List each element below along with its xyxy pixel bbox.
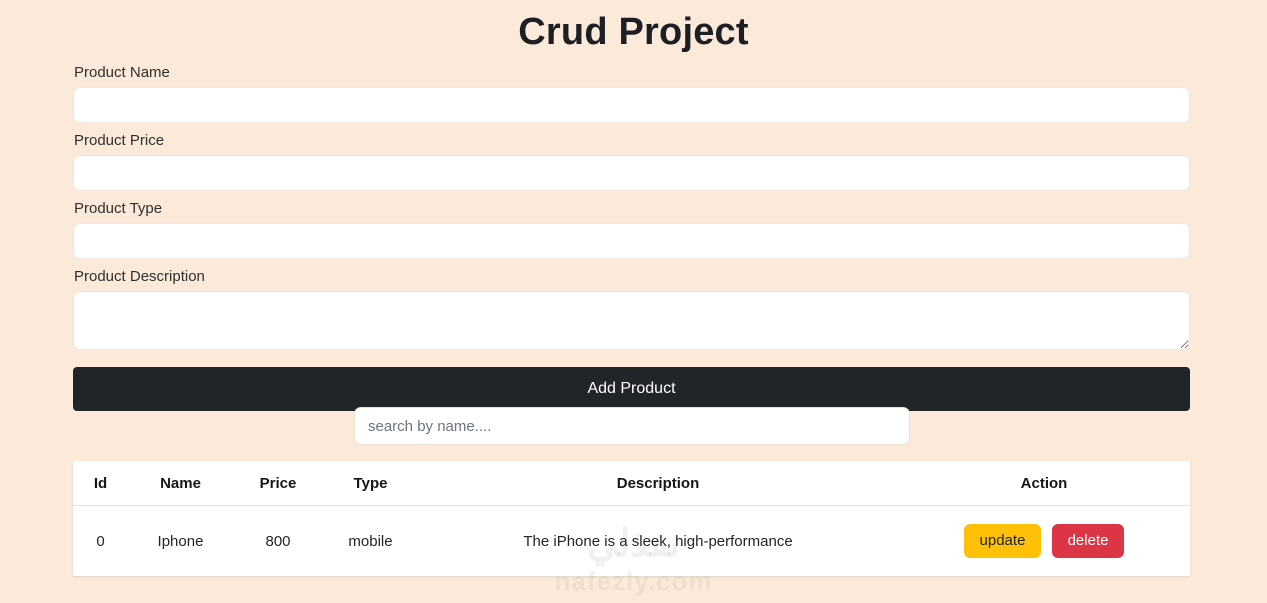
crud-page: Crud Project Product Name Product Price … <box>0 0 1267 603</box>
column-header-action: Action <box>898 461 1190 506</box>
product-description-textarea[interactable] <box>73 291 1190 350</box>
cell-type: mobile <box>323 506 418 577</box>
product-price-label: Product Price <box>74 130 1190 152</box>
field-product-type: Product Type <box>73 198 1190 259</box>
product-name-label: Product Name <box>74 62 1190 84</box>
add-product-button[interactable]: Add Product <box>73 367 1190 411</box>
update-button[interactable]: update <box>964 524 1042 558</box>
product-form: Product Name Product Price Product Type … <box>73 62 1190 411</box>
table-head: Id Name Price Type Description Action <box>73 461 1190 506</box>
field-product-price: Product Price <box>73 130 1190 191</box>
column-header-price: Price <box>233 461 323 506</box>
column-header-type: Type <box>323 461 418 506</box>
table-header-row: Id Name Price Type Description Action <box>73 461 1190 506</box>
cell-name: Iphone <box>128 506 233 577</box>
product-type-label: Product Type <box>74 198 1190 220</box>
field-product-name: Product Name <box>73 62 1190 123</box>
product-description-label: Product Description <box>74 266 1190 288</box>
cell-price: 800 <box>233 506 323 577</box>
cell-description: The iPhone is a sleek, high-performance <box>418 506 898 577</box>
products-table: Id Name Price Type Description Action 0 … <box>73 461 1190 576</box>
table-body: 0 Iphone 800 mobile The iPhone is a slee… <box>73 506 1190 577</box>
cell-action: update delete <box>898 506 1190 577</box>
table-row: 0 Iphone 800 mobile The iPhone is a slee… <box>73 506 1190 577</box>
product-type-input[interactable] <box>73 223 1190 259</box>
page-title: Crud Project <box>0 0 1267 56</box>
delete-button[interactable]: delete <box>1052 524 1125 558</box>
column-header-id: Id <box>73 461 128 506</box>
column-header-description: Description <box>418 461 898 506</box>
cell-id: 0 <box>73 506 128 577</box>
search-container <box>354 407 910 445</box>
product-name-input[interactable] <box>73 87 1190 123</box>
field-product-description: Product Description <box>73 266 1190 350</box>
column-header-name: Name <box>128 461 233 506</box>
product-price-input[interactable] <box>73 155 1190 191</box>
search-input[interactable] <box>354 407 910 445</box>
products-table-card: Id Name Price Type Description Action 0 … <box>73 461 1190 576</box>
